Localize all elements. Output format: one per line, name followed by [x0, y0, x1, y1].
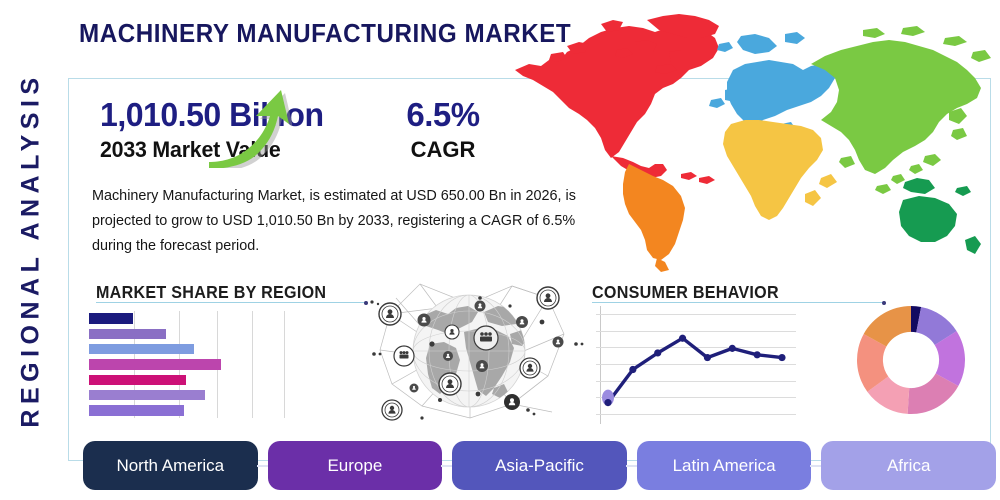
bar-chart-bar — [89, 405, 184, 416]
cagr-figure: 6.5% — [383, 96, 503, 134]
line-chart-point — [729, 345, 736, 352]
vertical-section-label-text: REGIONAL ANALYSIS — [17, 72, 46, 427]
line-chart-point — [604, 399, 611, 406]
world-map — [505, 8, 997, 276]
global-network-globe-icon — [352, 272, 586, 430]
consumer-behavior-section-rule — [592, 302, 882, 303]
consumer-behavior-line-chart — [596, 306, 796, 424]
page-title: MACHINERY MANUFACTURING MARKET — [79, 18, 571, 49]
region-connector — [626, 465, 638, 467]
hero-stats: 1,010.50 Billion 2033 Market Value 6.5% … — [96, 96, 566, 174]
region-button-africa[interactable]: Africa — [821, 441, 996, 490]
region-button-latin-america[interactable]: Latin America — [637, 441, 812, 490]
bar-chart-bar — [89, 375, 186, 386]
bar-chart-bar — [89, 390, 205, 401]
growth-arrow-icon — [206, 86, 292, 168]
infographic-canvas: REGIONAL ANALYSIS MACHINERY MANUFACTURIN… — [0, 0, 1000, 500]
cagr-caption: CAGR — [383, 137, 503, 163]
market-share-bar-chart — [89, 311, 284, 418]
region-button-asia-pacific[interactable]: Asia-Pacific — [452, 441, 627, 490]
segment-donut-chart — [855, 304, 967, 416]
consumer-behavior-section-title: CONSUMER BEHAVIOR — [592, 282, 779, 303]
bar-chart-bar — [89, 344, 194, 355]
line-chart-point — [704, 354, 711, 361]
line-chart-point — [778, 354, 785, 361]
market-share-section-title: MARKET SHARE BY REGION — [96, 282, 326, 303]
line-chart-point — [679, 335, 686, 342]
bar-chart-gridline — [284, 311, 285, 418]
bar-chart-bar — [89, 359, 221, 370]
region-button-europe[interactable]: Europe — [268, 441, 443, 490]
vertical-section-label: REGIONAL ANALYSIS — [0, 0, 62, 500]
line-chart-point — [754, 351, 761, 358]
bar-chart-gridline — [252, 311, 253, 418]
bar-chart-bar — [89, 313, 133, 324]
market-share-section-rule — [96, 302, 364, 303]
region-button-row: North AmericaEuropeAsia-PacificLatin Ame… — [83, 441, 996, 491]
bar-chart-bar — [89, 329, 166, 340]
line-chart-point — [654, 349, 661, 356]
region-button-north-america[interactable]: North America — [83, 441, 258, 490]
line-chart-point — [629, 366, 636, 373]
region-connector — [257, 465, 269, 467]
